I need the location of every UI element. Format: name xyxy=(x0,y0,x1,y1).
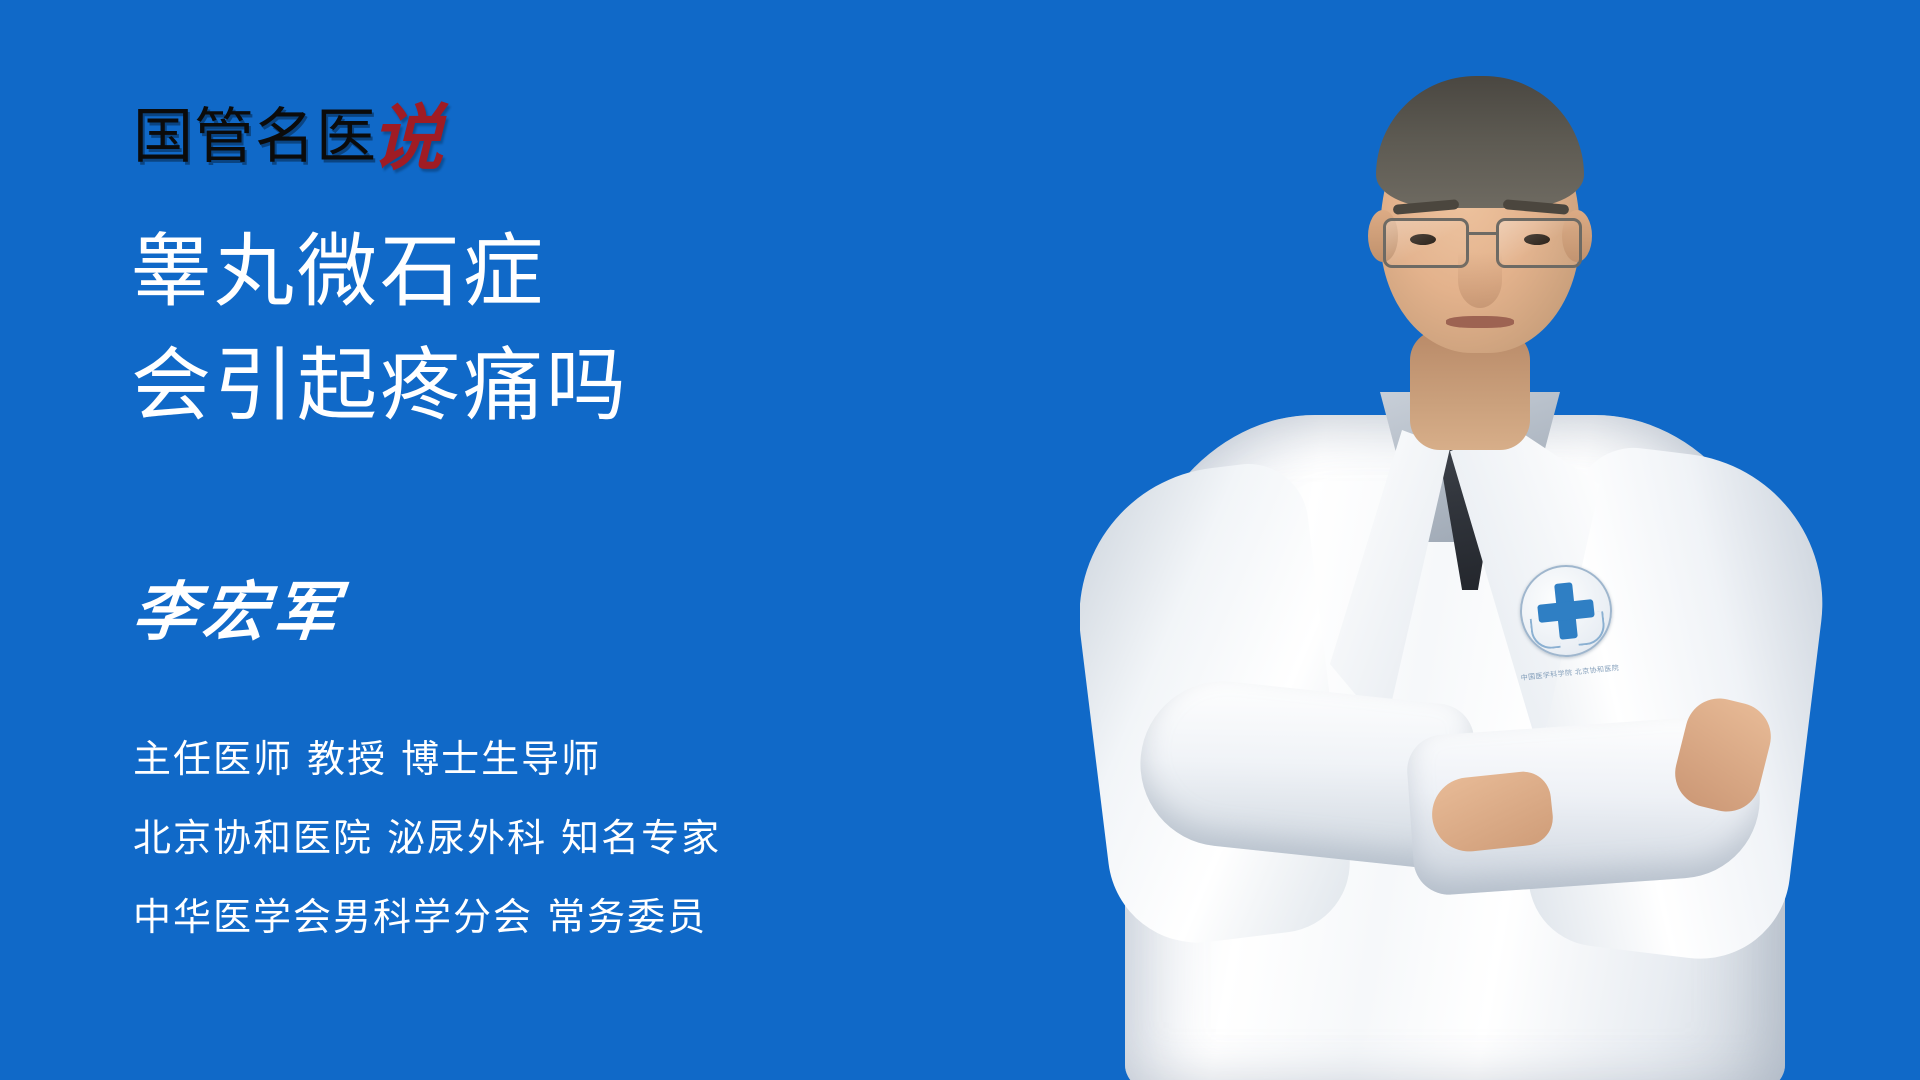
doctor-photo: 中国医学科学院 北京协和医院 xyxy=(1080,0,1920,1080)
doctor-credentials: 主任医师 教授 博士生导师 北京协和医院 泌尿外科 知名专家 中华医学会男科学分… xyxy=(133,720,1053,957)
hospital-emblem-icon xyxy=(1515,560,1616,661)
title-line-2: 会引起疼痛吗 xyxy=(131,329,951,443)
credential-line: 北京协和医院 泌尿外科 知名专家 xyxy=(133,799,1053,878)
mouth xyxy=(1446,316,1514,328)
page-title: 睾丸微石症 会引起疼痛吗 xyxy=(131,215,951,442)
nose xyxy=(1458,252,1502,308)
credential-line: 中华医学会男科学分会 常务委员 xyxy=(133,878,1053,957)
title-line-1: 睾丸微石症 xyxy=(131,215,951,329)
promo-card: 国管名医 说 睾丸微石症 会引起疼痛吗 李宏军 主任医师 教授 博士生导师 北京… xyxy=(0,0,1920,1080)
eyeglass-lens-right xyxy=(1496,218,1582,268)
hair xyxy=(1376,76,1584,208)
eyeglass-lens-left xyxy=(1383,218,1469,268)
brand-logo: 国管名医 说 xyxy=(133,96,443,168)
brand-logo-accent-text: 说 xyxy=(371,102,443,174)
credential-line: 主任医师 教授 博士生导师 xyxy=(133,720,1053,799)
doctor-name: 李宏军 xyxy=(130,581,347,645)
eyeglass-bridge xyxy=(1466,232,1496,235)
brand-logo-main-text: 国管名医 xyxy=(133,107,377,167)
